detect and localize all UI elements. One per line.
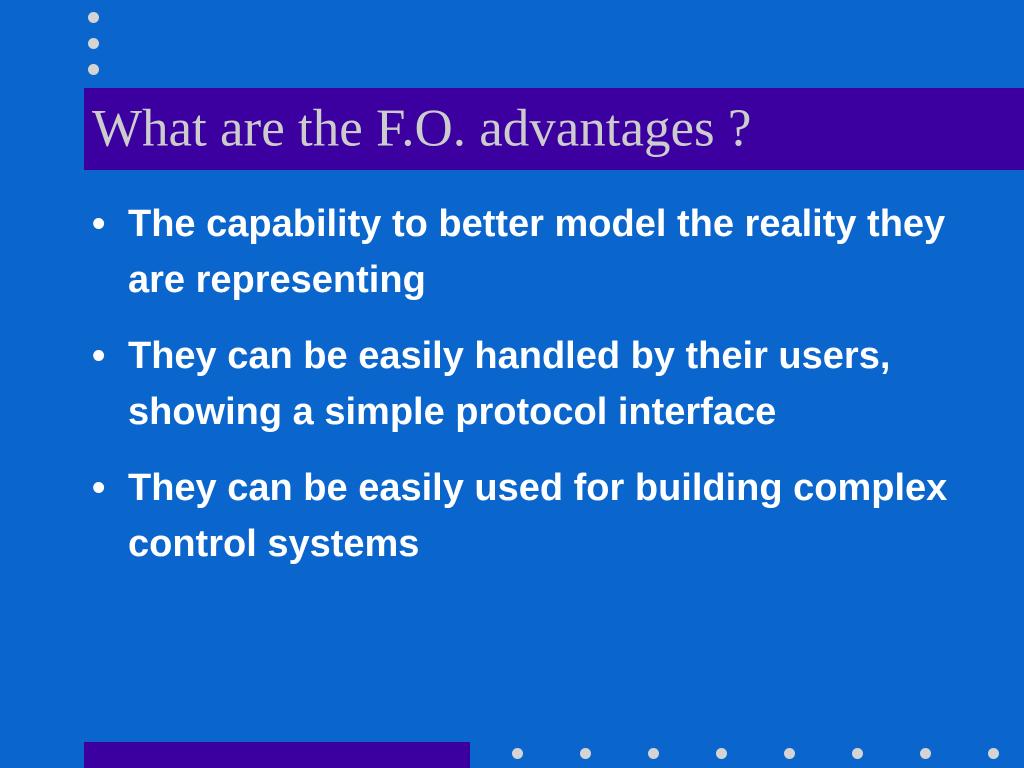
bullet-list: • The capability to better model the rea… bbox=[84, 196, 964, 572]
decoration-dot-icon bbox=[648, 748, 659, 759]
bullet-dot-icon: • bbox=[92, 196, 116, 252]
decoration-dot-icon bbox=[580, 748, 591, 759]
decoration-dot-icon bbox=[88, 64, 99, 75]
bullet-dot-icon: • bbox=[92, 460, 116, 516]
decoration-dot-icon bbox=[920, 748, 931, 759]
decoration-dot-icon bbox=[988, 748, 999, 759]
decoration-dot-icon bbox=[88, 38, 99, 49]
decoration-dot-icon bbox=[784, 748, 795, 759]
decoration-dot-icon bbox=[88, 12, 99, 23]
list-item-label: The capability to better model the reali… bbox=[128, 196, 964, 308]
slide-canvas: What are the F.O. advantages ? • The cap… bbox=[0, 0, 1024, 768]
title-band: What are the F.O. advantages ? bbox=[84, 88, 1024, 170]
list-item: • They can be easily handled by their us… bbox=[84, 328, 964, 440]
list-item-label: They can be easily used for building com… bbox=[128, 460, 964, 572]
list-item: • The capability to better model the rea… bbox=[84, 196, 964, 308]
bottom-decoration-dots bbox=[0, 748, 1024, 762]
slide-title: What are the F.O. advantages ? bbox=[92, 103, 1012, 156]
decoration-dot-icon bbox=[512, 748, 523, 759]
top-decoration-dots bbox=[88, 12, 108, 82]
list-item: • They can be easily used for building c… bbox=[84, 460, 964, 572]
decoration-dot-icon bbox=[716, 748, 727, 759]
decoration-dot-icon bbox=[852, 748, 863, 759]
bullet-dot-icon: • bbox=[92, 328, 116, 384]
list-item-label: They can be easily handled by their user… bbox=[128, 328, 964, 440]
